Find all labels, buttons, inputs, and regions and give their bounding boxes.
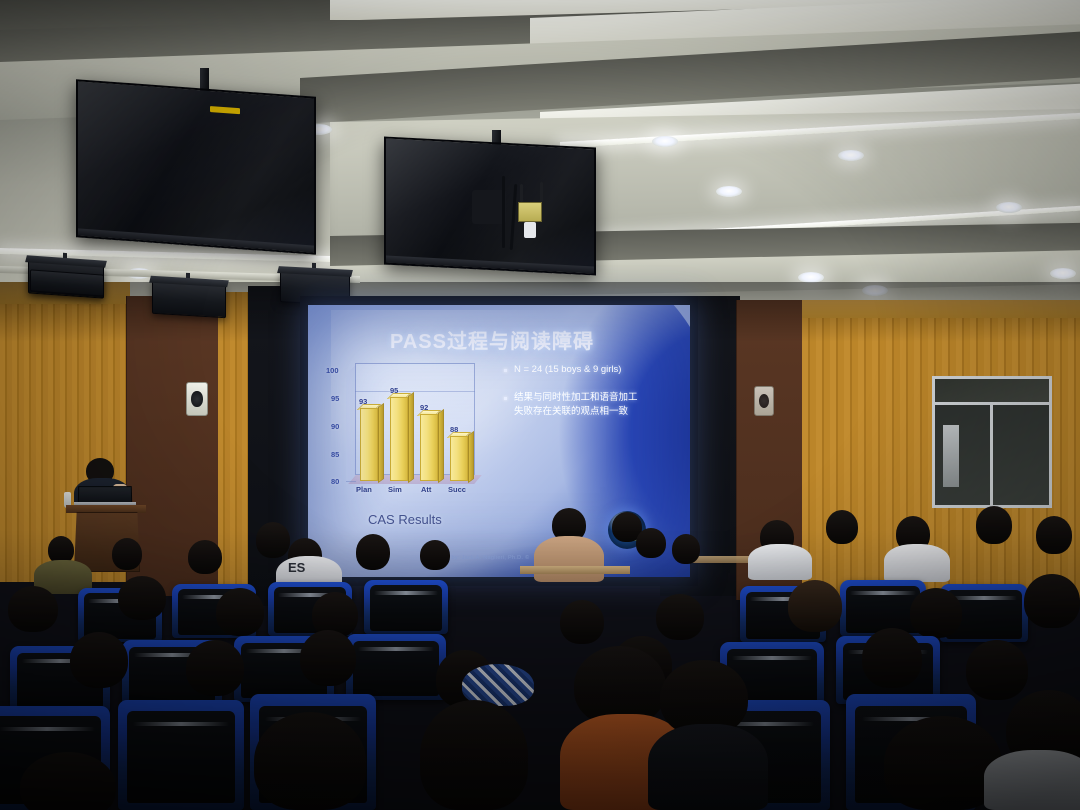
audience-head-b1	[118, 576, 166, 620]
wall-speaker-grill	[191, 391, 202, 406]
wall-speaker-right-grill	[759, 394, 769, 407]
audience-head-a8	[636, 528, 666, 558]
audience-head-b6	[788, 580, 842, 632]
downlight-1	[652, 136, 678, 147]
tv-left	[76, 79, 316, 255]
chair-b7-highlight	[951, 596, 1018, 600]
chair-d2-highlight	[133, 722, 229, 726]
audience-head-a4	[256, 522, 290, 558]
audience-head-a7	[420, 540, 450, 570]
audience-head-a3	[188, 540, 222, 574]
tv-right-vesa-mount	[472, 190, 506, 224]
window-mullion	[990, 405, 993, 505]
window-transom	[935, 379, 1049, 405]
chair-b4	[364, 580, 448, 634]
audience-body-a12	[884, 544, 950, 582]
audience-head-c3	[300, 630, 356, 686]
window	[932, 376, 1052, 508]
downlight-5	[1050, 268, 1076, 279]
audience-head-a14	[1036, 516, 1072, 554]
chair-c5-highlight	[732, 656, 811, 660]
chair-c4	[346, 634, 446, 700]
wireless-access-point	[518, 202, 542, 222]
access-point-power-brick	[524, 222, 536, 238]
audience-head-b0	[8, 586, 58, 632]
audience-body-a10	[748, 544, 812, 580]
tv-right-cable-a	[502, 176, 505, 248]
access-point-antenna-right	[540, 182, 543, 202]
audience-head-b2	[216, 588, 264, 636]
audience-head-c1	[70, 632, 128, 688]
tv-left-screen-sheen	[78, 81, 314, 252]
downlight-2	[838, 150, 864, 161]
downlight-4	[996, 202, 1022, 213]
wall-speaker	[186, 382, 208, 416]
lecture-hall-photo: PASS过程与阅读障碍 N = 24 (15 boys & 9 girls) 结…	[0, 0, 1080, 810]
audience-body-d5	[648, 724, 768, 810]
audience-head-a2	[112, 538, 142, 570]
chair-d1-highlight	[0, 727, 95, 731]
hoodie-text-es: ES	[288, 560, 305, 575]
audience-head-a13	[976, 506, 1012, 544]
audience-head-a9	[672, 534, 700, 564]
wall-speaker-right	[754, 386, 774, 416]
audience-head-b5	[656, 594, 704, 640]
front-table-person-shoulders	[534, 536, 604, 582]
lectern-top	[66, 505, 146, 513]
audience-head-b8	[1024, 574, 1080, 628]
stage-light-2	[152, 280, 226, 318]
audience-head-b7	[910, 588, 962, 638]
window-light-glow	[943, 425, 959, 487]
chair-d2	[118, 700, 244, 810]
access-point-antenna-left	[520, 184, 523, 202]
downlight-3	[716, 186, 742, 197]
audience-head-a11	[826, 510, 858, 544]
audience-head-c7	[966, 640, 1028, 700]
front-table	[520, 566, 630, 574]
chair-b4-highlight	[374, 591, 438, 595]
audience-head-c6	[862, 628, 922, 688]
audience-head-a6	[356, 534, 390, 570]
audience-head-b4	[560, 600, 604, 644]
chair-c4-highlight	[358, 647, 434, 651]
chair-b6-highlight	[850, 591, 915, 595]
audience-head-d2	[254, 712, 366, 810]
audience-body-d7	[984, 750, 1080, 810]
audience-head-c2	[186, 640, 244, 696]
audience-head-d3	[420, 700, 528, 810]
